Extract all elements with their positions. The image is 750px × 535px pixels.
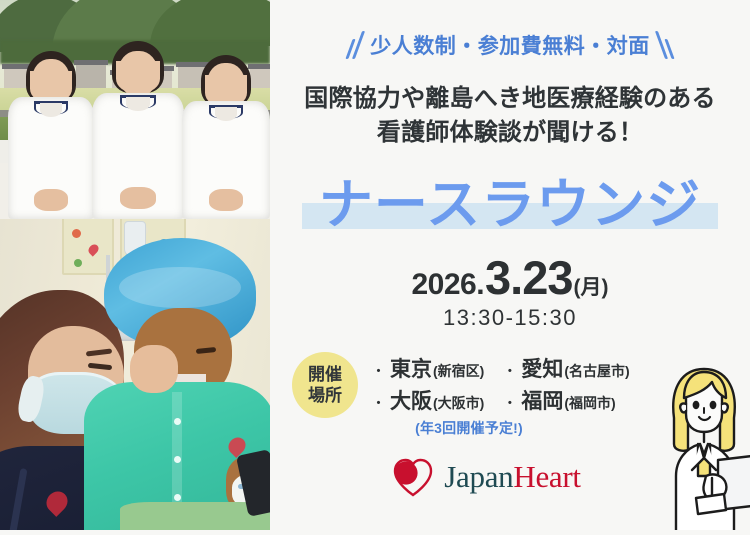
- bullet-icon: ・: [371, 364, 386, 379]
- list-item: ・ 東京 (新宿区): [371, 353, 484, 383]
- bullet-icon: ・: [371, 396, 386, 411]
- venue-badge-line-1: 開催: [308, 364, 342, 385]
- content-panel: 少人数制・参加費無料・対面 国際協力や離島へき地医療経験のある 看護師体験談が聞…: [270, 0, 750, 530]
- date-year: 2026.: [411, 268, 484, 302]
- list-item: ・ 大阪 (大阪市): [371, 385, 484, 415]
- tagline-row: 少人数制・参加費無料・対面: [270, 30, 750, 60]
- bullet-icon: ・: [502, 396, 517, 411]
- nurse-illustration: [656, 358, 750, 530]
- headline-line-2: 看護師体験談が聞ける！: [270, 116, 750, 150]
- photo-column: [0, 0, 270, 530]
- logo-japan: Japan: [444, 459, 513, 494]
- heart-logo-icon: [391, 456, 435, 498]
- city-name: 福岡: [521, 385, 563, 415]
- date-month-day: 3.23: [485, 250, 572, 305]
- photo-three-nurses-rural-landscape: [0, 0, 270, 219]
- event-title: ナースラウンジ: [270, 163, 750, 235]
- tagline-text: 少人数制・参加費無料・対面: [370, 30, 650, 60]
- slash-left-icon: [349, 31, 360, 59]
- venue-note: (年3回開催予定!): [371, 418, 567, 438]
- headline-line-1: 国際協力や離島へき地医療経験のある: [270, 82, 750, 116]
- nurse-photo-right: [182, 49, 270, 219]
- event-time: 13:30-15:30: [270, 305, 750, 331]
- bullet-icon: ・: [502, 364, 517, 379]
- venue-badge-line-2: 場所: [308, 385, 342, 406]
- date-day-of-week: (月): [574, 271, 609, 301]
- event-banner: 少人数制・参加費無料・対面 国際協力や離島へき地医療経験のある 看護師体験談が聞…: [0, 0, 750, 530]
- city-name: 東京: [390, 353, 432, 383]
- photo-nurse-and-child-hospital-ward: [0, 219, 270, 530]
- list-item: ・ 愛知 (名古屋市): [502, 353, 629, 383]
- title-block: ナースラウンジ: [270, 163, 750, 235]
- slash-right-icon: [660, 31, 671, 59]
- city-ward: (福岡市): [564, 393, 615, 413]
- nurse-photo-center: [92, 41, 184, 219]
- city-ward: (大阪市): [433, 393, 484, 413]
- city-name: 大阪: [390, 385, 432, 415]
- logo-wordmark: JapanHeart: [444, 459, 580, 495]
- nurse-photo-left: [8, 47, 94, 219]
- logo-heart: Heart: [513, 459, 580, 494]
- list-item: ・ 福岡 (福岡市): [502, 385, 629, 415]
- city-ward: (名古屋市): [564, 361, 629, 381]
- city-name: 愛知: [521, 353, 563, 383]
- clasped-hands: [130, 345, 178, 393]
- venue-badge: 開催 場所: [292, 352, 358, 418]
- event-date: 2026. 3.23 (月): [270, 250, 750, 305]
- city-ward: (新宿区): [433, 361, 484, 381]
- headline: 国際協力や離島へき地医療経験のある 看護師体験談が聞ける！: [270, 82, 750, 150]
